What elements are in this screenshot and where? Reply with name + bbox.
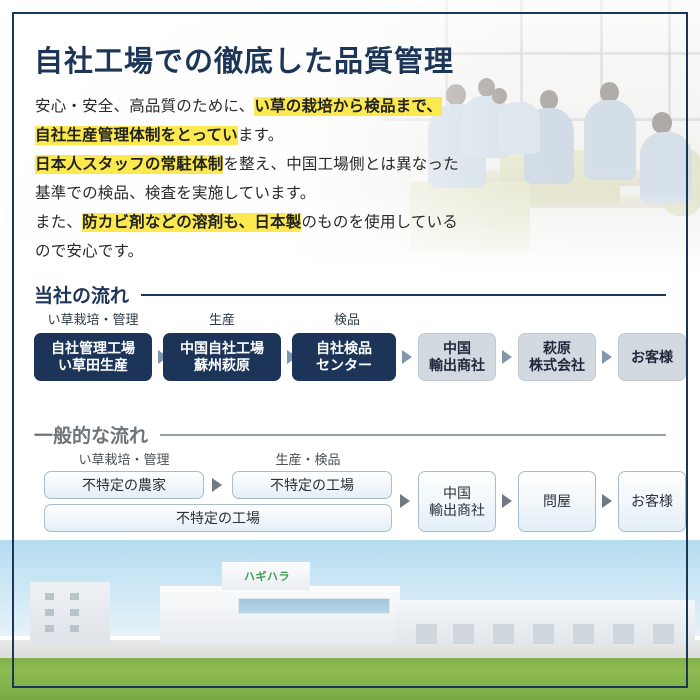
description-paragraph: 安心・安全、高品質のために、い草の栽培から検品まで、 自社生産管理体制をとってい… — [35, 92, 505, 266]
own-step-3-text: 自社検品センター — [316, 340, 372, 374]
highlighted-text: 日本製 — [254, 213, 301, 232]
general-caption-cultivation: い草栽培・管理 — [44, 449, 204, 468]
arrow-own-4 — [502, 350, 512, 364]
general-step-wholesaler-text: 問屋 — [543, 493, 571, 510]
general-step-wholesaler[interactable]: 問屋 — [518, 471, 596, 532]
own-step-2-text: 中国自社工場蘇州萩原 — [180, 340, 264, 374]
own-step-2[interactable]: 中国自社工場蘇州萩原 — [163, 333, 281, 381]
own-caption-production: 生産 — [163, 309, 281, 328]
heading-rule — [160, 434, 666, 436]
arrow-general-3 — [502, 494, 512, 508]
general-flow-heading-label: 一般的な流れ — [34, 421, 160, 448]
own-step-1[interactable]: 自社管理工場い草田生産 — [34, 333, 152, 381]
own-step-1-text: 自社管理工場い草田生産 — [51, 340, 135, 374]
general-step-factory-wide[interactable]: 不特定の工場 — [44, 504, 392, 532]
text-plain: ます。 — [238, 127, 284, 144]
general-step-farm-text: 不特定の農家 — [82, 477, 166, 494]
general-step-farm[interactable]: 不特定の農家 — [44, 471, 204, 499]
own-step-3[interactable]: 自社検品センター — [292, 333, 396, 381]
text-plain: 安心・安全、高品質のために、 — [35, 98, 254, 115]
general-step-factory-wide-text: 不特定の工場 — [176, 510, 260, 527]
own-step-6-text: お客様 — [631, 349, 673, 366]
paragraph-line: また、防カビ剤などの溶剤も、日本製のものを使用している — [35, 208, 505, 237]
general-step-exporter-text: 中国輸出商社 — [429, 485, 485, 519]
heading-rule — [141, 294, 666, 296]
general-step-customer[interactable]: お客様 — [618, 471, 686, 532]
own-step-6[interactable]: お客様 — [618, 333, 686, 381]
general-step-factory-top-text: 不特定の工場 — [270, 477, 354, 494]
text-plain: また、 — [35, 214, 82, 231]
own-step-4-text: 中国輸出商社 — [429, 340, 485, 374]
highlighted-text: 自社生産管理体制をとってい — [35, 126, 238, 145]
infographic-page: ハギハラ 自社工場での徹底した品質管理 安心・安全、高品質のために、い草の栽培か… — [0, 0, 700, 700]
own-caption-cultivation: い草栽培・管理 — [34, 309, 152, 328]
paragraph-line: 日本人スタッフの常駐体制を整え、中国工場側とは異なった — [35, 150, 505, 179]
general-step-exporter[interactable]: 中国輸出商社 — [418, 471, 496, 532]
paragraph-line: 基準での検品、検査を実施しています。 — [35, 179, 505, 208]
paragraph-line: 自社生産管理体制をとっています。 — [35, 121, 505, 150]
text-plain: 基準での検品、検査を実施しています。 — [35, 185, 316, 202]
own-flow-heading-label: 当社の流れ — [34, 281, 141, 308]
arrow-general-4 — [602, 494, 612, 508]
arrow-own-5 — [602, 350, 612, 364]
paragraph-line: 安心・安全、高品質のために、い草の栽培から検品まで、 — [35, 92, 505, 121]
arrow-general-1 — [212, 478, 222, 492]
arrow-own-3 — [402, 350, 412, 364]
general-step-customer-text: お客様 — [631, 493, 673, 510]
highlighted-text: 日本人スタッフの常駐体制 — [35, 155, 223, 174]
own-step-4[interactable]: 中国輸出商社 — [418, 333, 496, 381]
text-plain: のものを使用している — [301, 214, 458, 231]
own-step-5-text: 萩原株式会社 — [529, 340, 585, 374]
own-step-5[interactable]: 萩原株式会社 — [518, 333, 596, 381]
general-step-factory-top[interactable]: 不特定の工場 — [232, 471, 392, 499]
paragraph-line: ので安心です。 — [35, 237, 505, 266]
own-flow-heading: 当社の流れ — [34, 281, 666, 308]
text-plain: を整え、中国工場側とは異なった — [223, 156, 459, 173]
page-title: 自社工場での徹底した品質管理 — [34, 38, 454, 80]
general-caption-production: 生産・検品 — [228, 449, 388, 468]
highlighted-text: い草の栽培から検品まで、 — [254, 97, 442, 116]
own-caption-inspection: 検品 — [292, 309, 402, 328]
highlighted-text: 防カビ剤などの溶剤も、 — [82, 213, 254, 232]
general-flow-heading: 一般的な流れ — [34, 421, 666, 448]
text-plain: ので安心です。 — [35, 243, 143, 260]
arrow-general-2 — [400, 494, 410, 508]
